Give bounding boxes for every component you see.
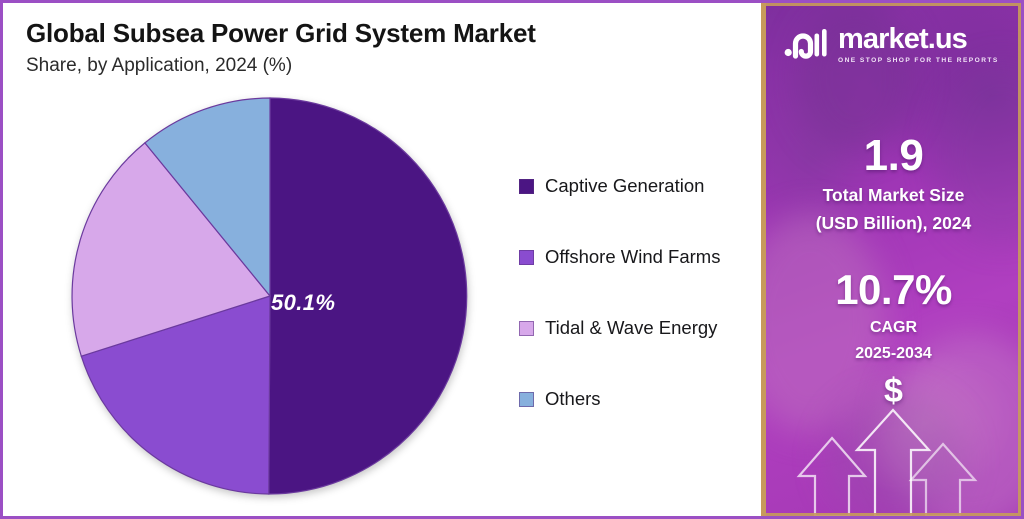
market-size-value: 1.9 [766,133,1021,179]
legend-item-others[interactable]: Others [519,384,754,414]
infographic-screenshot: Global Subsea Power Grid System Market S… [0,0,1024,519]
stat-market-size: 1.9 Total Market Size (USD Billion), 202… [766,133,1021,235]
growth-arrows-graphic: $ [766,366,1021,516]
arrow-up-center [857,410,929,516]
dollar-sign-icon: $ [766,372,1021,411]
legend-swatch-icon [519,321,534,336]
stat-cagr: 10.7% CAGR 2025-2034 [766,268,1021,364]
legend-label: Offshore Wind Farms [545,248,720,267]
brand-logo-text: market.us ONE STOP SHOP FOR THE REPORTS [838,26,999,64]
legend-label: Others [545,390,601,409]
legend-item-tidal-wave-energy[interactable]: Tidal & Wave Energy [519,313,754,343]
title-block: Global Subsea Power Grid System Market S… [26,19,726,78]
legend-swatch-icon [519,392,534,407]
legend-swatch-icon [519,179,534,194]
brand-logo[interactable]: market.us ONE STOP SHOP FOR THE REPORTS [784,25,999,65]
arrow-up-left [799,438,865,516]
brand-name: market.us [838,26,999,54]
pie-slice-value-label: 50.1% [271,290,335,316]
cagr-caption-line1: CAGR [766,318,1021,338]
pie-chart-svg [71,97,469,495]
legend-item-captive-generation[interactable]: Captive Generation [519,171,754,201]
brand-tagline: ONE STOP SHOP FOR THE REPORTS [838,57,999,64]
legend-swatch-icon [519,250,534,265]
brand-stats-panel: market.us ONE STOP SHOP FOR THE REPORTS … [761,3,1021,516]
chart-panel: Global Subsea Power Grid System Market S… [3,3,761,516]
market-us-logo-icon [784,25,828,65]
page-subtitle: Share, by Application, 2024 (%) [26,55,726,78]
arrow-up-right [911,444,975,516]
cagr-value: 10.7% [766,268,1021,312]
market-size-caption-line1: Total Market Size [766,185,1021,207]
legend-label: Captive Generation [545,177,704,196]
page-title: Global Subsea Power Grid System Market [26,19,726,49]
cagr-caption-line2: 2025-2034 [766,344,1021,364]
chart-legend: Captive Generation Offshore Wind Farms T… [519,171,754,414]
legend-label: Tidal & Wave Energy [545,319,717,338]
pie-chart [71,97,469,495]
legend-item-offshore-wind-farms[interactable]: Offshore Wind Farms [519,242,754,272]
market-size-caption-line2: (USD Billion), 2024 [766,213,1021,235]
